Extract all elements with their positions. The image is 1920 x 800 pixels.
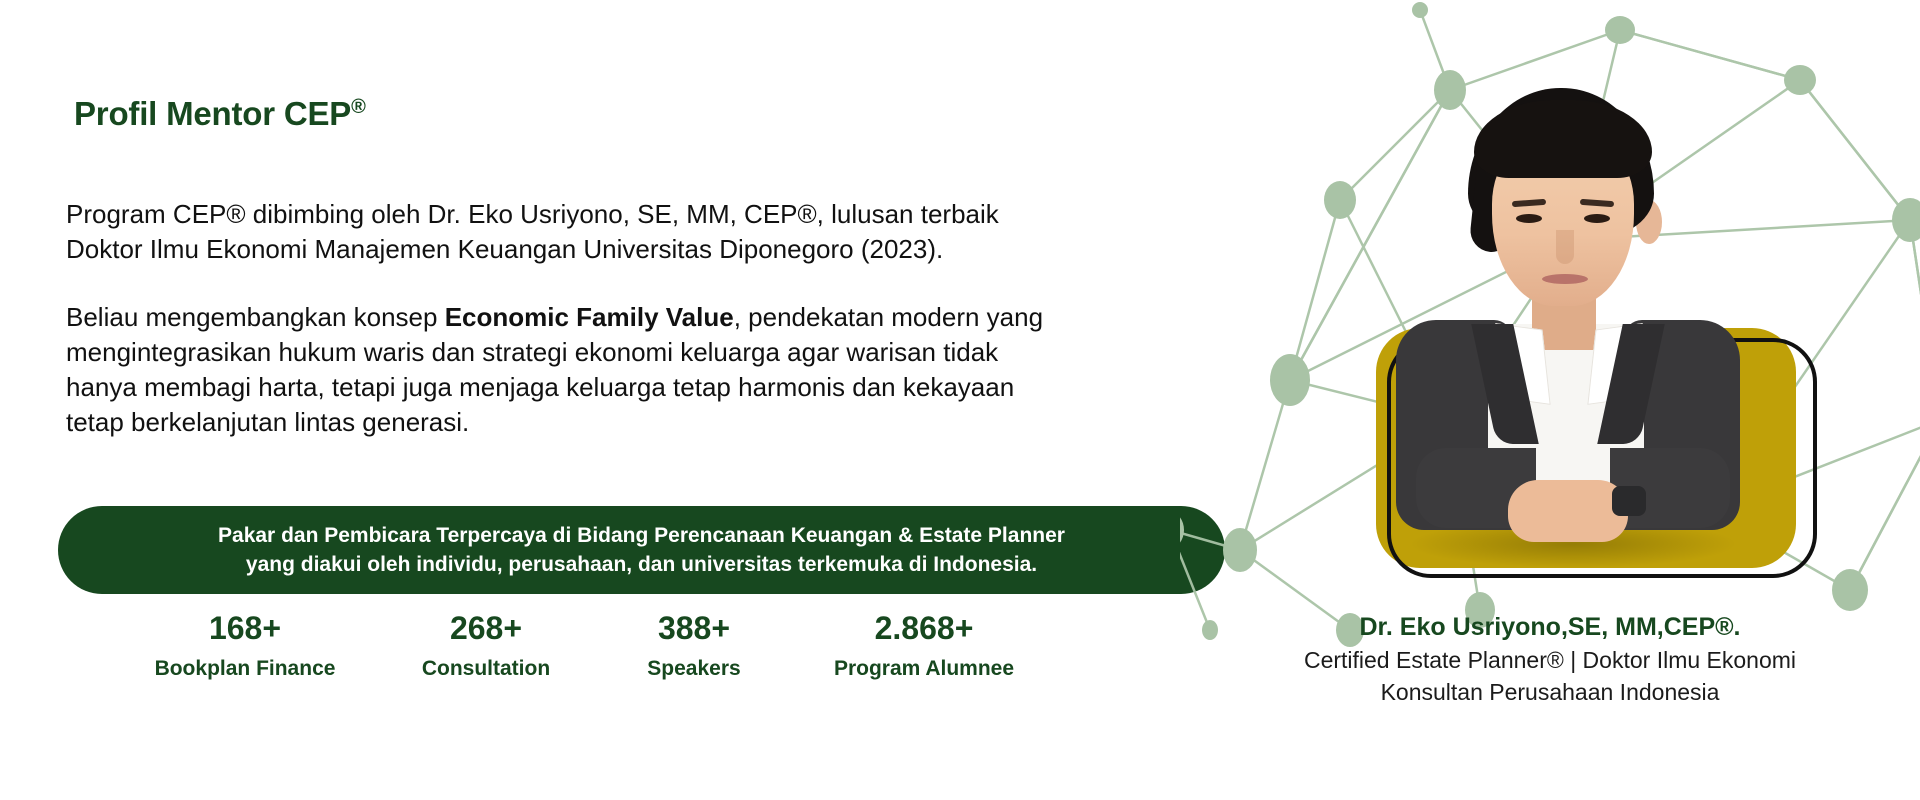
- stat-item: 2.868+ Program Alumnee: [799, 608, 1049, 684]
- paragraph-1-line-1: Program CEP® dibimbing oleh Dr. Eko Usri…: [66, 197, 1066, 232]
- banner-line-2: yang diakui oleh individu, perusahaan, d…: [246, 550, 1037, 579]
- watch-icon: [1612, 486, 1646, 516]
- portrait-caption: Dr. Eko Usriyono,SE, MM,CEP®. Certified …: [1180, 610, 1920, 708]
- stat-value: 168+: [130, 608, 360, 648]
- hair-top: [1474, 100, 1652, 178]
- mouth: [1542, 274, 1588, 284]
- stat-label: Consultation: [386, 654, 586, 684]
- clasped-hands: [1508, 480, 1628, 542]
- registered-mark-icon: ®: [351, 96, 366, 118]
- banner-line-1: Pakar dan Pembicara Terpercaya di Bidang…: [218, 521, 1065, 550]
- stat-item: 388+ Speakers: [614, 608, 774, 684]
- paragraph-2-lead: Beliau mengembangkan konsep: [66, 302, 445, 332]
- eye-left: [1516, 214, 1542, 223]
- stat-label: Program Alumnee: [799, 654, 1049, 684]
- mentor-name: Dr. Eko Usriyono,SE, MM,CEP®.: [1180, 610, 1920, 644]
- statistics-row: 168+ Bookplan Finance 268+ Consultation …: [110, 608, 1050, 684]
- credentials-banner: Pakar dan Pembicara Terpercaya di Bidang…: [58, 506, 1225, 594]
- mentor-role-line-2: Konsultan Perusahaan Indonesia: [1180, 676, 1920, 708]
- stat-value: 388+: [614, 608, 774, 648]
- body-text-block: Program CEP® dibimbing oleh Dr. Eko Usri…: [66, 197, 1066, 440]
- nose: [1556, 230, 1574, 264]
- mentor-role-line-1: Certified Estate Planner® | Doktor Ilmu …: [1180, 644, 1920, 676]
- stat-label: Speakers: [614, 654, 774, 684]
- paragraph-2-emphasis: Economic Family Value: [445, 302, 734, 332]
- eye-right: [1584, 214, 1610, 223]
- page-title: Profil Mentor CEP®: [74, 95, 366, 133]
- portrait-photo: [1360, 88, 1780, 588]
- paragraph-2: Beliau mengembangkan konsep Economic Fam…: [66, 300, 1066, 440]
- stat-item: 268+ Consultation: [386, 608, 586, 684]
- stat-value: 2.868+: [799, 608, 1049, 648]
- page-title-text: Profil Mentor CEP: [74, 95, 351, 132]
- stat-item: 168+ Bookplan Finance: [130, 608, 360, 684]
- profile-page: Profil Mentor CEP® Program CEP® dibimbin…: [0, 0, 1920, 800]
- stat-value: 268+: [386, 608, 586, 648]
- left-content-column: Profil Mentor CEP® Program CEP® dibimbin…: [0, 0, 1060, 800]
- stat-label: Bookplan Finance: [130, 654, 360, 684]
- paragraph-1-line-2: Doktor Ilmu Ekonomi Manajemen Keuangan U…: [66, 232, 1066, 267]
